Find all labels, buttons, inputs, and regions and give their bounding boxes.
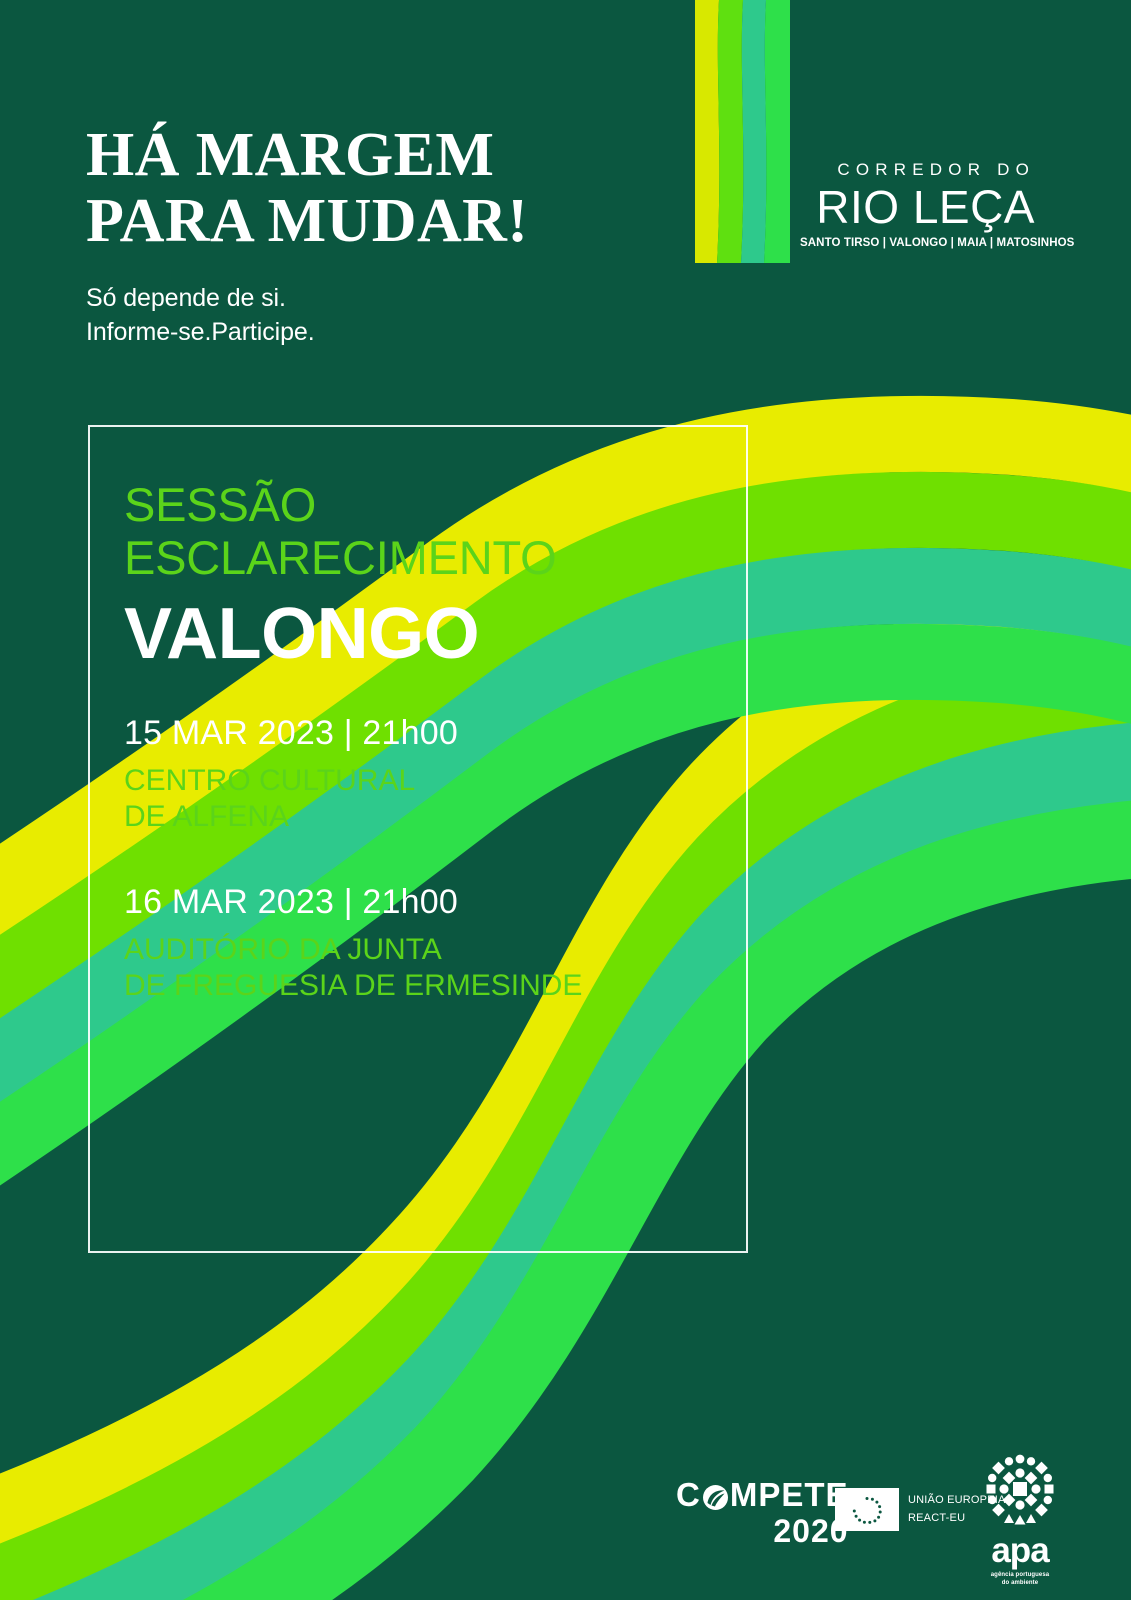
- headline-block: HÁ MARGEM PARA MUDAR! Só depende de si. …: [86, 122, 686, 349]
- eu-flag-icon: [835, 1488, 899, 1531]
- session-venue-line-2: DE FREGUESIA DE ERMESINDE: [124, 968, 744, 1004]
- session-venue: CENTRO CULTURAL DE ALFENA: [124, 763, 744, 835]
- headline-line-1: HÁ MARGEM: [86, 122, 686, 188]
- session-venue-line-1: AUDITÓRIO DA JUNTA: [124, 932, 744, 968]
- session-item: 15 MAR 2023 | 21h00 CENTRO CULTURAL DE A…: [124, 714, 744, 835]
- headline-subline: Só depende de si. Informe-se.Participe.: [86, 281, 686, 349]
- compete-word-rest: MPETE: [730, 1478, 849, 1511]
- session-venue: AUDITÓRIO DA JUNTA DE FREGUESIA DE ERMES…: [124, 932, 744, 1004]
- apa-tagline-line-1: agência portuguesa: [980, 1571, 1060, 1579]
- subline-2: Informe-se.Participe.: [86, 315, 686, 349]
- apa-tagline-line-2: do ambiente: [980, 1579, 1060, 1587]
- session-datetime: 16 MAR 2023 | 21h00: [124, 883, 744, 922]
- apa-mandala-icon: [983, 1452, 1057, 1526]
- session-item: 16 MAR 2023 | 21h00 AUDITÓRIO DA JUNTA D…: [124, 883, 744, 1004]
- session-datetime: 15 MAR 2023 | 21h00: [124, 714, 744, 753]
- event-kicker-line-2: ESCLARECIMENTO: [124, 531, 744, 584]
- apa-wordmark: apa: [980, 1533, 1060, 1568]
- compete-2020-logo: C MPETE 2020: [676, 1478, 849, 1550]
- subline-1: Só depende de si.: [86, 281, 686, 315]
- session-venue-line-2: DE ALFENA: [124, 799, 744, 835]
- apa-tagline: agência portuguesa do ambiente: [980, 1571, 1060, 1587]
- event-kicker-line-1: SESSÃO: [124, 478, 744, 531]
- compete-letter-c: C: [676, 1478, 701, 1511]
- headline-line-2: PARA MUDAR!: [86, 188, 686, 254]
- logo-municipalities: SANTO TIRSO | VALONGO | MAIA | MATOSINHO…: [800, 237, 1035, 249]
- logo-kicker: CORREDOR DO: [800, 160, 1035, 180]
- compete-year: 2020: [676, 1513, 849, 1550]
- event-details: SESSÃO ESCLARECIMENTO VALONGO 15 MAR 202…: [124, 478, 744, 1004]
- poster-root: HÁ MARGEM PARA MUDAR! Só depende de si. …: [0, 0, 1131, 1600]
- logo-name: RIO LEÇA: [800, 183, 1035, 231]
- logo-text-block: CORREDOR DO RIO LEÇA SANTO TIRSO | VALON…: [800, 160, 1035, 249]
- apa-logo: apa agência portuguesa do ambiente: [980, 1452, 1060, 1587]
- logo-stripes-icon: [695, 0, 790, 263]
- rio-leca-logo: CORREDOR DO RIO LEÇA SANTO TIRSO | VALON…: [695, 0, 1035, 275]
- event-city: VALONGO: [124, 596, 744, 674]
- compete-wordmark: C MPETE: [676, 1478, 849, 1511]
- session-venue-line-1: CENTRO CULTURAL: [124, 763, 744, 799]
- compete-swirl-icon: [702, 1483, 729, 1510]
